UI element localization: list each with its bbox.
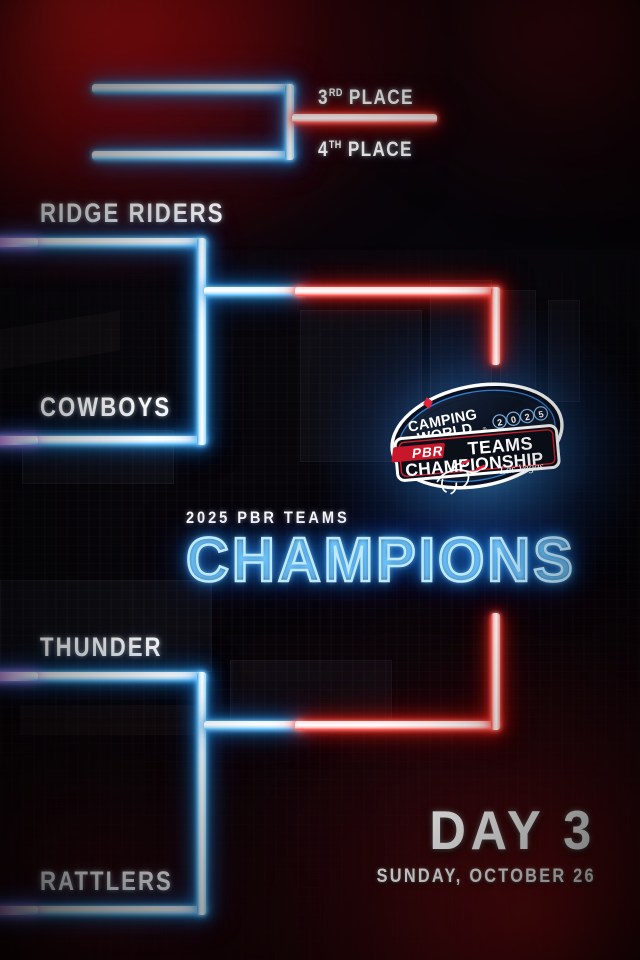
champions-kicker: 2025 PBR TEAMS xyxy=(186,508,530,528)
schedule-block: DAY 3 SUNDAY, OCTOBER 26 xyxy=(341,798,596,888)
third-place-label: PLACE xyxy=(349,86,414,109)
bracket-line-bottom-final-rise xyxy=(491,613,500,730)
red-glow-top-right xyxy=(340,0,640,220)
bracket-line-consolation-bottom xyxy=(92,151,294,160)
label-third-place: 3RD PLACE xyxy=(318,86,414,110)
bracket-line-top-final-drop xyxy=(491,287,500,365)
bracket-line-top-connector xyxy=(197,238,206,445)
bracket-tip-bottom-lower xyxy=(0,906,38,915)
bracket-line-bottom-connector xyxy=(197,672,206,915)
bracket-line-consolation-output xyxy=(292,114,437,123)
team-label-ridge-riders: RIDGE RIDERS xyxy=(40,198,225,229)
bracket-tip-bottom-upper xyxy=(0,672,38,681)
schedule-date: SUNDAY, OCTOBER 26 xyxy=(377,866,596,888)
third-place-suffix: RD xyxy=(329,87,343,99)
label-fourth-place: 4TH PLACE xyxy=(318,138,413,162)
third-place-ordinal: 3 xyxy=(318,86,329,109)
fourth-place-suffix: TH xyxy=(329,139,342,151)
team-label-thunder: THUNDER xyxy=(40,632,163,663)
bracket-line-top-to-final xyxy=(295,287,500,296)
champions-headline-block: 2025 PBR TEAMS CHAMPIONS xyxy=(186,508,586,592)
schedule-day: DAY 3 xyxy=(362,798,596,862)
team-label-cowboys: COWBOYS xyxy=(40,392,171,423)
bracket-graphic: 3RD PLACE 4TH PLACE RIDGE RIDERS COWBOYS… xyxy=(0,0,640,960)
team-label-rattlers: RATTLERS xyxy=(40,866,173,897)
bracket-tip-top-upper xyxy=(0,238,38,247)
fourth-place-label: PLACE xyxy=(348,138,413,161)
arena-structure xyxy=(0,310,120,369)
pbr-teams-championship-logo: CAMPING WORLD ® 2 0 2 5 xyxy=(382,374,572,499)
fourth-place-ordinal: 4 xyxy=(318,138,329,161)
champions-headline: CHAMPIONS xyxy=(186,530,570,592)
bracket-line-bottom-to-final xyxy=(295,721,500,730)
bracket-line-consolation-top xyxy=(92,84,294,93)
bracket-tip-top-lower xyxy=(0,436,38,445)
bracket-line-top-output xyxy=(204,287,304,296)
bracket-line-bottom-output xyxy=(204,721,304,730)
